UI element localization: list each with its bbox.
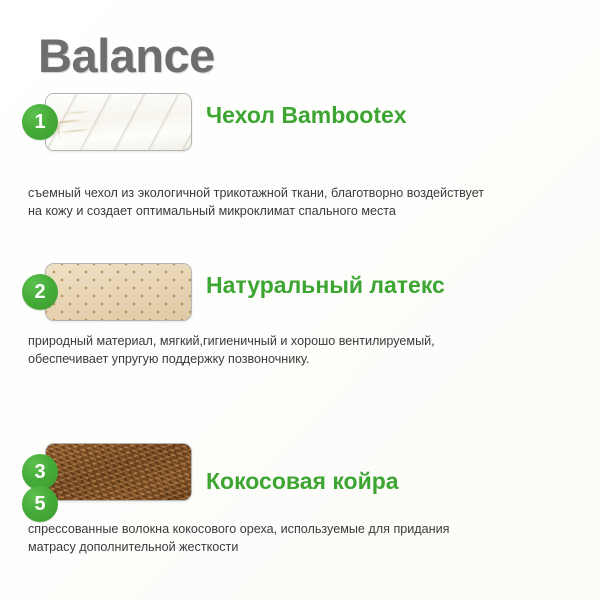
latex-texture [46,264,191,320]
coir-texture [46,444,191,500]
layer-title-1: Чехол Bambootex [206,102,407,130]
page-title: Balance [38,32,215,79]
mattress-layers-infographic: Balance 1 Чехол Bambootex съемный чехол … [0,0,600,600]
layer-title-3: Кокосовая койра [206,468,399,496]
layer-description-1: съемный чехол из экологичной трикотажной… [28,184,576,221]
bambootex-texture [46,94,191,150]
layer-block-1: 1 Чехол Bambootex съемный чехол из эколо… [0,88,600,154]
layer-badge-3: 3 [22,454,58,490]
layer-badge-2: 2 [22,274,58,310]
layer-badge-1: 1 [22,104,58,140]
layer-row-2: 2 Натуральный латекс [0,258,600,324]
natural-latex-swatch [45,263,192,321]
layer-title-2: Натуральный латекс [206,272,445,300]
layer-row-1: 1 Чехол Bambootex [0,88,600,154]
layer-block-2: 2 Натуральный латекс природный материал,… [0,258,600,324]
layer-row-3: 3 5 Кокосовая койра [0,438,600,504]
layer-block-3: 3 5 Кокосовая койра спрессованные волокн… [0,438,600,504]
bambootex-cover-swatch [45,93,192,151]
coconut-coir-swatch [45,443,192,501]
layer-description-2: природный материал, мягкий,гигиеничный и… [28,332,576,369]
layer-description-3: спрессованные волокна кокосового ореха, … [28,520,576,557]
layer-badge-5: 5 [22,486,58,522]
